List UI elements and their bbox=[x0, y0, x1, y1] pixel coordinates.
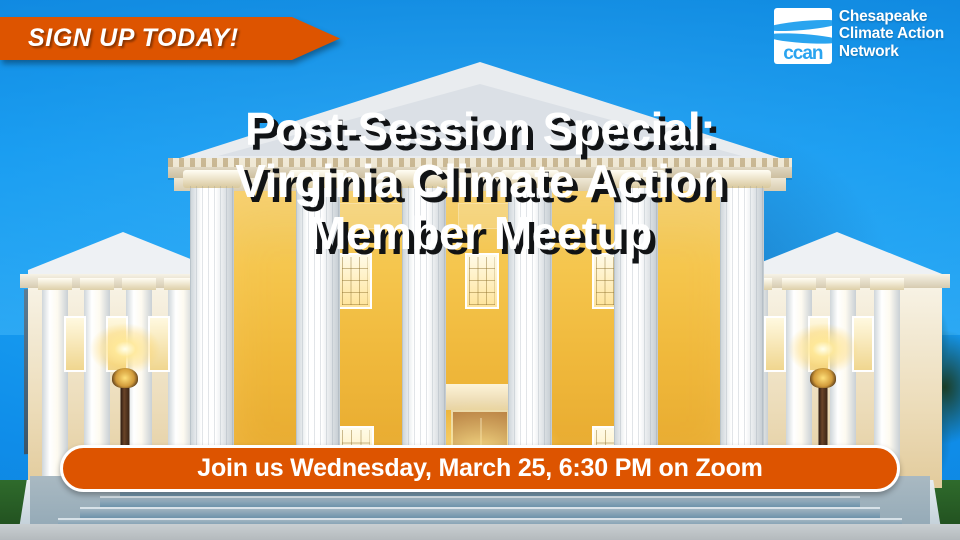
page-title: Post-Session Special: Virginia Climate A… bbox=[0, 104, 960, 260]
plaza-pavement bbox=[0, 524, 960, 540]
headline-line-1: Post-Session Special: bbox=[40, 104, 920, 156]
sign-up-ribbon[interactable]: SIGN UP TODAY! bbox=[0, 17, 340, 60]
headline-line-3: Member Meetup bbox=[40, 208, 920, 260]
event-promo-poster: SIGN UP TODAY! ccan Chesapeake Climate A… bbox=[0, 0, 960, 540]
left-wing-window bbox=[64, 316, 86, 372]
ccan-mark-text: ccan bbox=[774, 44, 832, 63]
left-wing-window bbox=[148, 316, 170, 372]
ccan-wave-mark-icon: ccan bbox=[774, 8, 832, 64]
lamp-head-icon bbox=[810, 368, 836, 388]
logo-line-3: Network bbox=[839, 43, 944, 60]
headline-line-2: Virginia Climate Action bbox=[40, 156, 920, 208]
logo-line-2: Climate Action bbox=[839, 25, 944, 42]
ribbon-label: SIGN UP TODAY! bbox=[28, 17, 239, 60]
right-wing-window bbox=[852, 316, 874, 372]
event-details-label: Join us Wednesday, March 25, 6:30 PM on … bbox=[197, 454, 762, 483]
ccan-logo[interactable]: ccan Chesapeake Climate Action Network bbox=[774, 8, 944, 64]
logo-line-1: Chesapeake bbox=[839, 8, 944, 25]
event-details-banner[interactable]: Join us Wednesday, March 25, 6:30 PM on … bbox=[60, 445, 900, 492]
lamp-head-icon bbox=[112, 368, 138, 388]
ccan-logo-wordmark: Chesapeake Climate Action Network bbox=[839, 8, 944, 60]
